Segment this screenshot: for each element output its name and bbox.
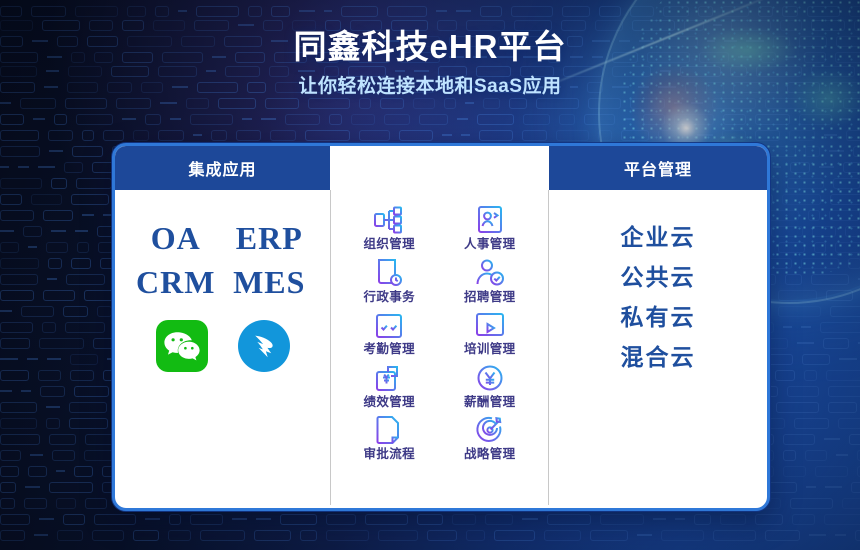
module-label: 战略管理 — [464, 448, 516, 461]
strategy-target-icon — [473, 414, 507, 446]
tab-platform-management[interactable]: 平台管理 — [549, 146, 767, 190]
module-label: 行政事务 — [363, 291, 415, 304]
main-card: 集成应用 平台管理 OA ERP CRM MES — [112, 143, 770, 511]
training-play-icon — [473, 309, 507, 341]
module-strategy[interactable]: 战略管理 — [440, 414, 541, 461]
app-abbr-crm[interactable]: CRM — [136, 262, 215, 302]
cloud-item-public[interactable]: 公共云 — [621, 266, 696, 289]
tab-platform-management-label: 平台管理 — [624, 156, 692, 180]
cloud-item-private[interactable]: 私有云 — [621, 306, 696, 329]
module-label: 薪酬管理 — [464, 396, 516, 409]
recruitment-icon — [473, 257, 507, 289]
card-body: OA ERP CRM MES — [115, 190, 767, 505]
wechat-icon[interactable] — [156, 320, 208, 372]
integrated-apps-panel: OA ERP CRM MES — [115, 190, 330, 505]
tab-integrated-apps[interactable]: 集成应用 — [115, 146, 330, 190]
performance-icon — [372, 362, 406, 394]
module-attendance[interactable]: 考勤管理 — [339, 309, 440, 356]
module-label: 人事管理 — [464, 238, 516, 251]
platform-management-panel: 企业云 公共云 私有云 混合云 — [549, 190, 767, 505]
abbreviation-grid: OA ERP CRM MES — [115, 206, 330, 302]
module-performance[interactable]: 绩效管理 — [339, 362, 440, 409]
module-org-management[interactable]: 组织管理 — [339, 204, 440, 251]
page-header: 同鑫科技eHR平台 让你轻松连接本地和SaaS应用 — [0, 26, 860, 98]
module-label: 培训管理 — [464, 343, 516, 356]
module-approval-flow[interactable]: 审批流程 — [339, 414, 440, 461]
app-screenshot: 同鑫科技eHR平台 让你轻松连接本地和SaaS应用 集成应用 平台管理 OA E… — [0, 0, 860, 550]
module-label: 招聘管理 — [464, 291, 516, 304]
module-administration[interactable]: 行政事务 — [339, 257, 440, 304]
salary-yen-icon — [473, 362, 507, 394]
cloud-item-enterprise[interactable]: 企业云 — [621, 226, 696, 249]
cloud-item-hybrid[interactable]: 混合云 — [621, 346, 696, 369]
app-abbr-erp[interactable]: ERP — [236, 218, 303, 258]
module-label: 审批流程 — [363, 448, 415, 461]
app-icon-row — [115, 320, 330, 372]
administration-icon — [372, 257, 406, 289]
page-subtitle: 让你轻松连接本地和SaaS应用 — [0, 71, 860, 98]
personnel-icon — [473, 204, 507, 236]
module-training[interactable]: 培训管理 — [440, 309, 541, 356]
attendance-calendar-icon — [372, 309, 406, 341]
hr-modules-grid: 组织管理 人事管理 — [331, 204, 548, 461]
module-label: 绩效管理 — [363, 396, 415, 409]
tab-center-blank[interactable] — [330, 146, 549, 190]
module-recruitment[interactable]: 招聘管理 — [440, 257, 541, 304]
dingtalk-icon[interactable] — [238, 320, 290, 372]
module-label: 组织管理 — [363, 238, 415, 251]
cloud-list: 企业云 公共云 私有云 混合云 — [549, 226, 767, 369]
org-chart-icon — [372, 204, 406, 236]
page-title: 同鑫科技eHR平台 — [0, 26, 860, 67]
tab-bar: 集成应用 平台管理 — [115, 146, 767, 190]
tab-integrated-apps-label: 集成应用 — [188, 156, 256, 180]
module-label: 考勤管理 — [363, 343, 415, 356]
module-personnel-management[interactable]: 人事管理 — [440, 204, 541, 251]
hr-modules-panel: 组织管理 人事管理 — [330, 190, 549, 505]
app-abbr-oa[interactable]: OA — [151, 218, 201, 258]
app-abbr-mes[interactable]: MES — [233, 262, 305, 302]
module-salary[interactable]: 薪酬管理 — [440, 362, 541, 409]
approval-document-icon — [372, 414, 406, 446]
